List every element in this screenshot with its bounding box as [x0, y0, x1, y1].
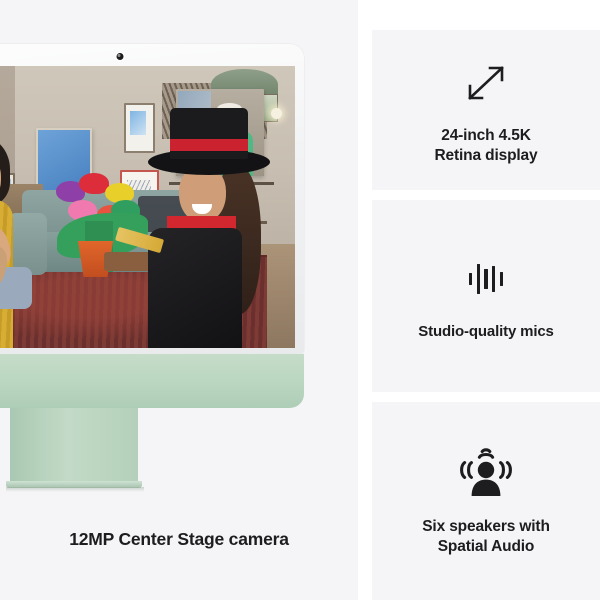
expand-diagonal-arrows-icon — [463, 54, 509, 112]
camera-feature-caption: 12MP Center Stage camera — [0, 528, 358, 551]
camera-dot-icon — [117, 53, 124, 60]
speakers-feature-tile: Six speakers with Spatial Audio — [372, 402, 600, 600]
mics-feature-tile: Studio-quality mics — [372, 200, 600, 392]
waveform-bar — [469, 273, 472, 285]
feature-grid: 12MP Center Stage camera 24-inch 4.5K Re… — [0, 0, 600, 600]
top-hat-band — [170, 139, 249, 151]
waveform-bar — [492, 266, 495, 292]
spatial-audio-person-icon — [458, 445, 514, 503]
display-feature-label: 24-inch 4.5K Retina display — [425, 126, 548, 166]
waveform-bar — [484, 269, 487, 289]
imac-top-bezel — [0, 44, 304, 66]
camera-feature-tile: 12MP Center Stage camera — [0, 0, 358, 600]
waveform-bar — [477, 264, 480, 294]
imac-chin — [0, 354, 304, 408]
waveform-bar — [500, 272, 503, 286]
audio-waveform-icon — [469, 250, 503, 308]
side-table — [104, 252, 151, 271]
speakers-feature-label: Six speakers with Spatial Audio — [412, 517, 560, 557]
video-call-scene — [0, 66, 295, 348]
mics-feature-label: Studio-quality mics — [408, 322, 564, 341]
waveform-bars — [469, 259, 503, 299]
adult-hair — [0, 134, 10, 207]
person-child-magician — [145, 108, 296, 348]
imac-device — [0, 44, 304, 404]
imac-stand-neck — [10, 408, 138, 484]
adult-jeans — [0, 267, 32, 310]
imac-screen — [0, 66, 295, 348]
display-feature-tile: 24-inch 4.5K Retina display — [372, 30, 600, 190]
feature-tiles-column: 24-inch 4.5K Retina display Studio-quali… — [372, 0, 600, 600]
imac-stand-shadow — [6, 487, 144, 492]
